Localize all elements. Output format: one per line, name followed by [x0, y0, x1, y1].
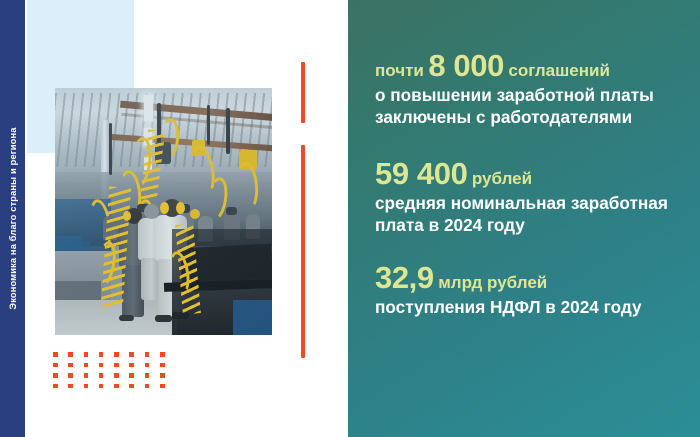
dot: [145, 363, 150, 368]
dot: [129, 384, 134, 389]
sidebar-banner: Экономика на благо страны и региона: [0, 0, 25, 437]
stat-block-ndfl: 32,9 млрд рублей поступления НДФЛ в 2024…: [375, 262, 687, 319]
dot: [84, 384, 89, 389]
dot: [99, 352, 104, 357]
orange-dot-grid: [53, 352, 175, 394]
dot: [68, 352, 73, 357]
stat-description: поступления НДФЛ в 2024 году: [375, 297, 675, 319]
dot: [53, 363, 58, 368]
dot: [160, 384, 165, 389]
dot: [129, 352, 134, 357]
stat-block-average-salary: 59 400 рублей средняя номинальная зарабо…: [375, 158, 687, 236]
stats-list: почти 8 000 соглашений о повышении зараб…: [375, 50, 687, 341]
dot: [145, 384, 150, 389]
dot: [53, 373, 58, 378]
stat-headline: 32,9 млрд рублей: [375, 262, 687, 293]
dot: [114, 352, 119, 357]
dot: [129, 363, 134, 368]
stat-headline: 59 400 рублей: [375, 158, 687, 189]
stats-panel: почти 8 000 соглашений о повышении зараб…: [348, 0, 700, 437]
dot: [84, 352, 89, 357]
dot: [114, 363, 119, 368]
left-panel: Экономика на благо страны и региона: [0, 0, 348, 437]
dot: [145, 352, 150, 357]
photo-blue-tint-overlay: [55, 88, 272, 335]
stat-unit: соглашений: [508, 61, 610, 80]
dot: [129, 373, 134, 378]
dot: [99, 363, 104, 368]
dot: [53, 384, 58, 389]
stat-unit: млрд рублей: [438, 273, 547, 292]
dot: [99, 384, 104, 389]
stat-value: 32,9: [375, 260, 434, 295]
dot: [68, 384, 73, 389]
dot: [68, 373, 73, 378]
orange-accent-line-bottom: [301, 145, 305, 358]
dot: [160, 373, 165, 378]
dot: [99, 373, 104, 378]
dot: [160, 352, 165, 357]
stat-value: 8 000: [428, 48, 504, 83]
stat-prefix: почти: [375, 61, 424, 80]
stat-headline: почти 8 000 соглашений: [375, 50, 687, 81]
stat-value: 59 400: [375, 156, 467, 191]
dot: [114, 384, 119, 389]
stat-description: средняя номинальная заработная плата в 2…: [375, 193, 675, 236]
sidebar-banner-label: Экономика на благо страны и региона: [0, 0, 25, 437]
factory-photo: [55, 88, 272, 335]
dot: [53, 352, 58, 357]
dot: [84, 373, 89, 378]
dot: [160, 363, 165, 368]
stat-unit: рублей: [472, 169, 532, 188]
dot: [145, 373, 150, 378]
stat-description: о повышении заработной платы заключены с…: [375, 85, 675, 128]
orange-accent-line-top: [301, 62, 305, 123]
dot: [114, 373, 119, 378]
stat-block-agreements: почти 8 000 соглашений о повышении зараб…: [375, 50, 687, 128]
dot: [84, 363, 89, 368]
dot: [68, 363, 73, 368]
